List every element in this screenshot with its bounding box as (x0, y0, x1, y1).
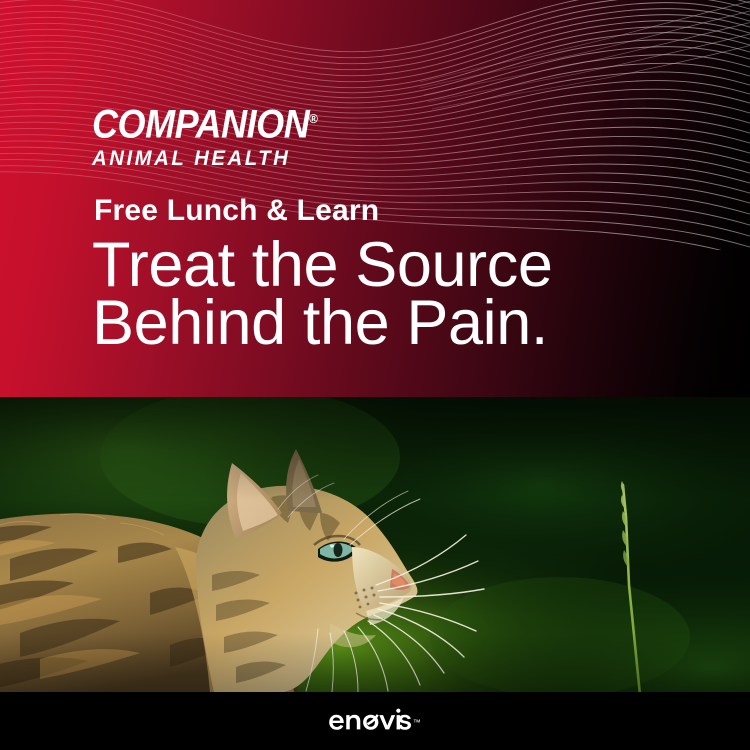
hero-photo-cat (0, 397, 750, 692)
promo-poster: COMPANION® ANIMAL HEALTH Free Lunch & Le… (0, 0, 750, 750)
hero-banner: COMPANION® ANIMAL HEALTH Free Lunch & Le… (0, 0, 750, 397)
enovis-wordmark-icon (329, 708, 411, 734)
cat-photo-illustration (0, 397, 750, 692)
registered-trademark-icon: ® (309, 111, 318, 126)
event-kicker: Free Lunch & Learn (94, 194, 379, 228)
companion-animal-health-logo: COMPANION® ANIMAL HEALTH (92, 99, 332, 171)
logo-wordmark-text: COMPANION (92, 102, 309, 146)
trademark-symbol: ™ (413, 719, 421, 727)
enovis-logo: ™ (329, 708, 421, 734)
logo-wordmark: COMPANION® (92, 99, 308, 144)
footer-bar: ™ (0, 692, 750, 750)
headline-line-2: Behind the Pain. (92, 294, 553, 352)
logo-tagline: ANIMAL HEALTH (92, 147, 325, 171)
page-title: Treat the Source Behind the Pain. (92, 236, 553, 352)
